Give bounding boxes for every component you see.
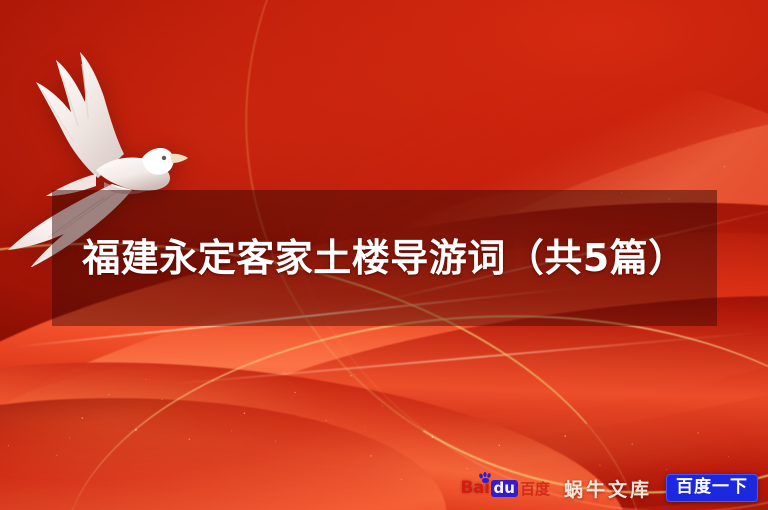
watermark-row: Bai du 百度 蜗牛文库 百度一下 [460, 474, 758, 502]
page-title: 福建永定客家土楼导游词（共5篇） [52, 190, 717, 326]
site-name-watermark: 蜗牛文库 [564, 475, 652, 502]
baidu-logo[interactable]: Bai du 百度 [460, 477, 550, 499]
baidu-du-text: du [491, 480, 518, 497]
cover-image: 福建永定客家土楼导游词（共5篇） Bai du 百度 蜗牛文库 百度一下 [0, 0, 768, 510]
page-title-text: 福建永定客家土楼导游词（共5篇） [74, 234, 695, 283]
baidu-paw-icon [478, 470, 493, 481]
baidu-cn-text: 百度 [520, 478, 550, 499]
baidu-search-button[interactable]: 百度一下 [666, 474, 758, 502]
